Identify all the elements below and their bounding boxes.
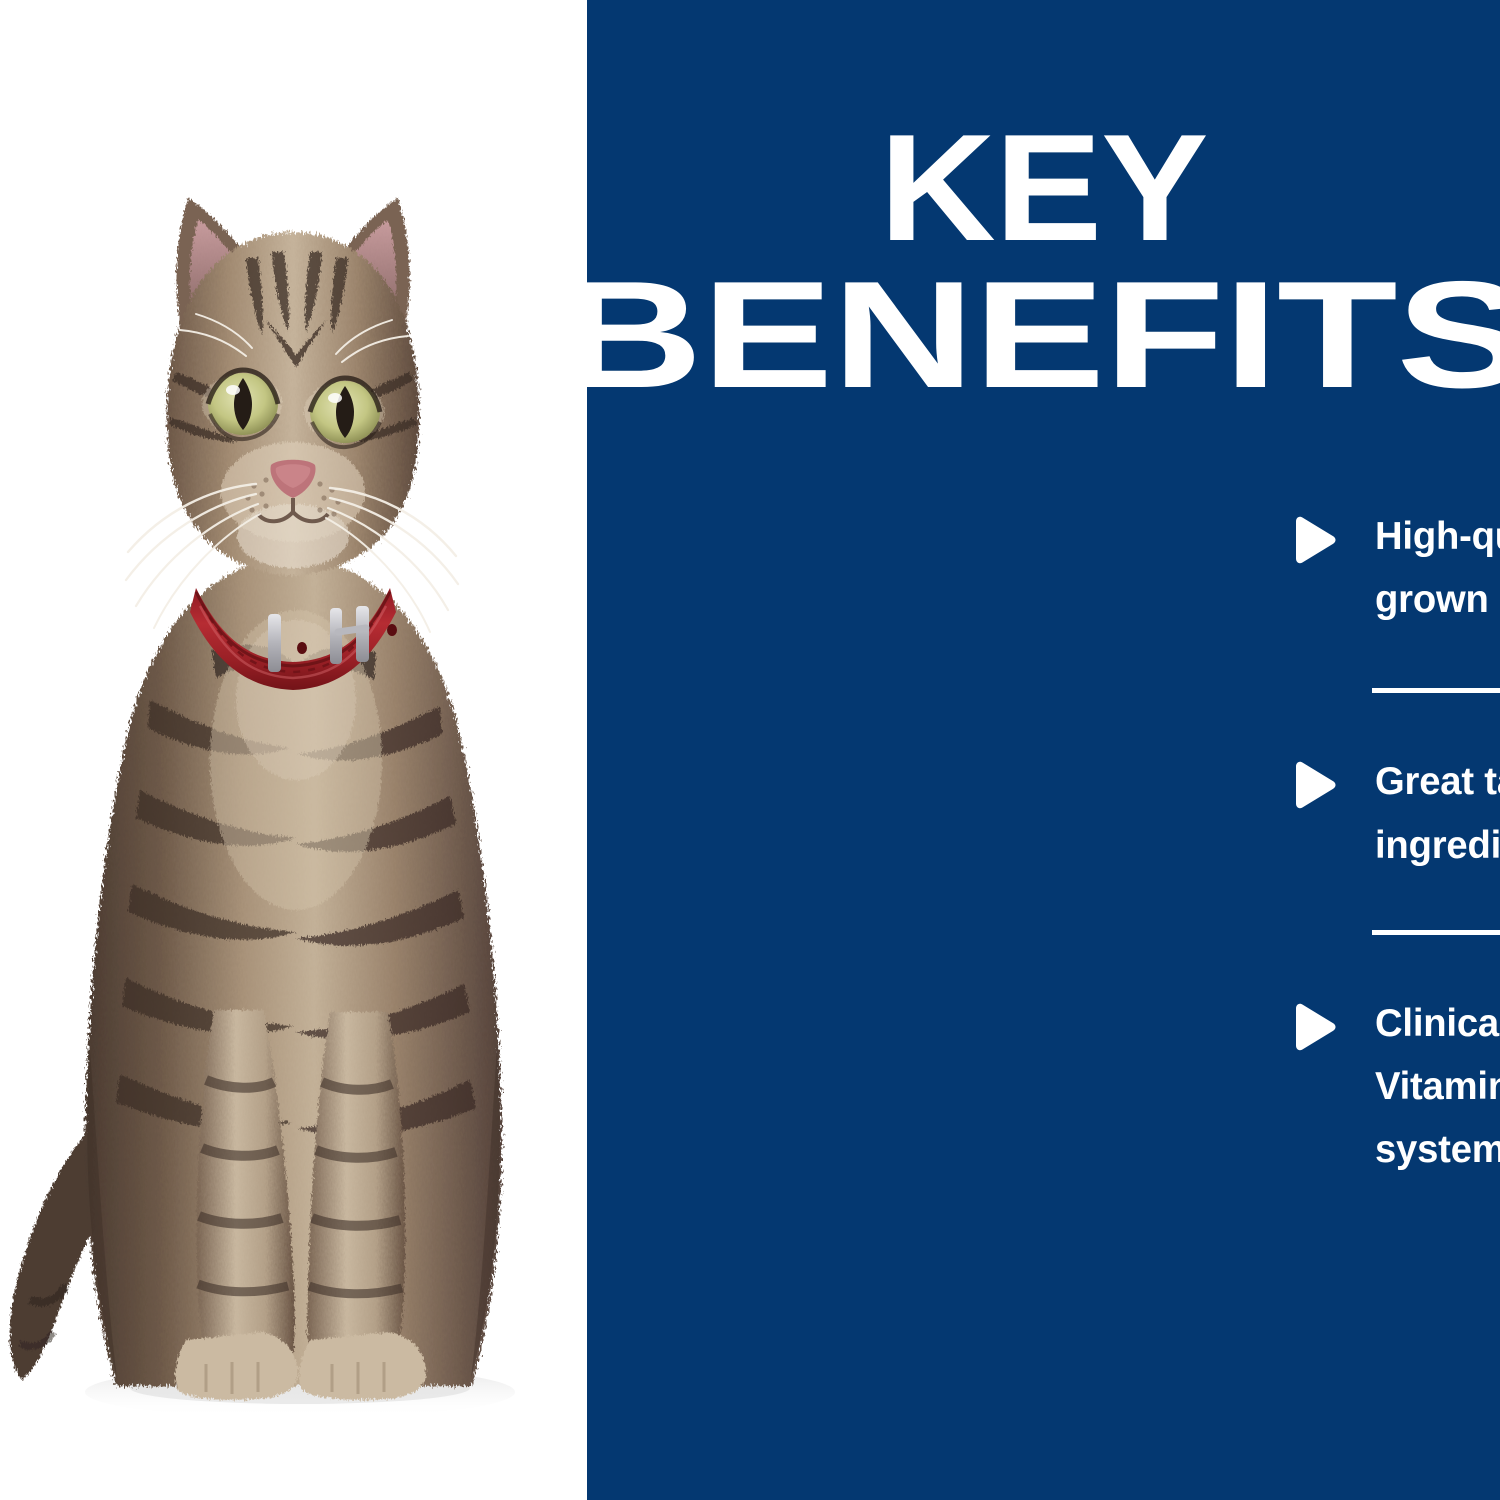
play-triangle-icon: [1290, 515, 1338, 565]
benefit-item: Clinically proven antioxidants, Vitamin …: [1290, 992, 1500, 1182]
spacer: [1290, 631, 1500, 688]
benefit-text: High-quality protein to help your grown …: [1375, 505, 1500, 631]
benefit-text: Great tasting, easy-to-digest ingredient…: [1375, 750, 1500, 876]
spacer: [1290, 693, 1500, 750]
benefit-item: Great tasting, easy-to-digest ingredient…: [1290, 750, 1500, 876]
benefits-list: High-quality protein to help your grown …: [1290, 505, 1500, 1181]
spacer: [1290, 877, 1500, 930]
spacer: [1290, 935, 1500, 992]
cat-photograph: [0, 0, 587, 1500]
benefit-item: High-quality protein to help your grown …: [1290, 505, 1500, 631]
key-benefits-panel: KEY BENEFITS High-quality protein to hel…: [587, 0, 1500, 1500]
benefit-text: Clinically proven antioxidants, Vitamin …: [1375, 992, 1500, 1182]
headline-line-benefits: BENEFITS: [450, 265, 1500, 406]
page-title: KEY BENEFITS: [587, 118, 1500, 407]
play-triangle-icon: [1290, 760, 1338, 810]
play-triangle-icon: [1290, 1002, 1338, 1052]
headline-line-key: KEY: [560, 118, 1500, 259]
cat-photo-panel: [0, 0, 587, 1500]
key-benefits-marketing-image: KEY BENEFITS High-quality protein to hel…: [0, 0, 1500, 1500]
